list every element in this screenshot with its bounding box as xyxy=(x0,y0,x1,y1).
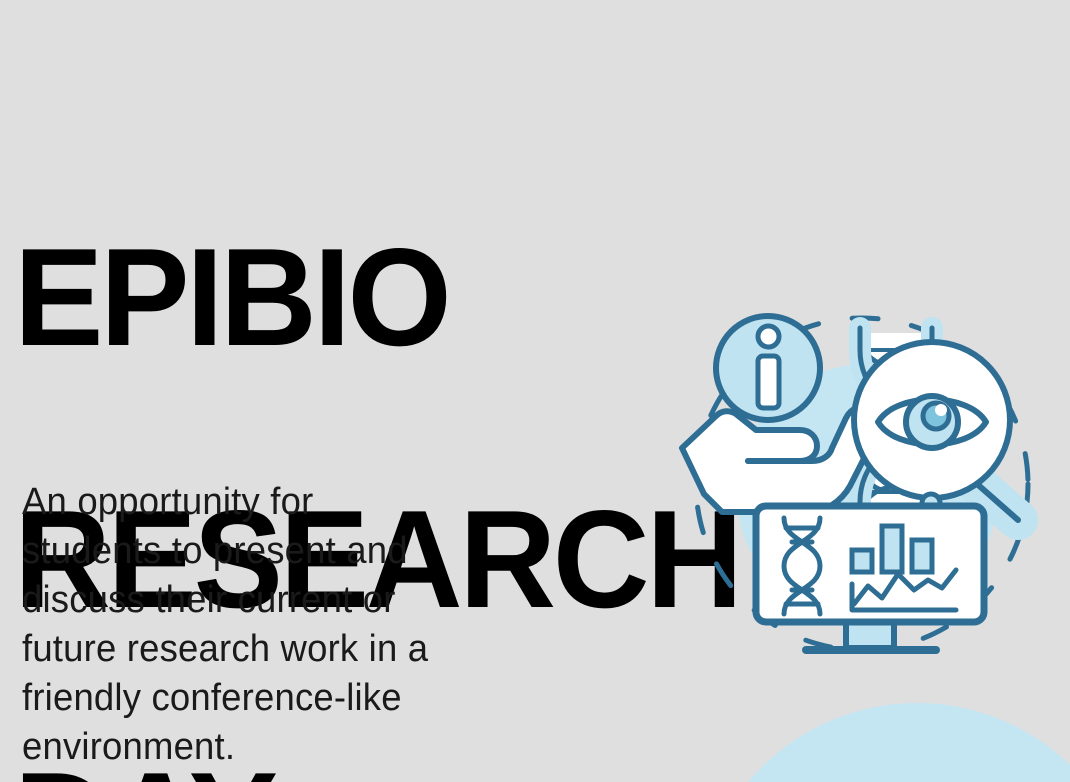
monitor-icon xyxy=(756,506,984,650)
description-line-3: discuss their current or xyxy=(22,576,502,625)
research-illustration xyxy=(660,298,1070,670)
description-text: An opportunity for students to present a… xyxy=(22,478,502,772)
description-line-5: friendly conference-like xyxy=(22,674,502,723)
info-circle-icon xyxy=(716,316,820,420)
description-line-4: future research work in a xyxy=(22,625,502,674)
description-line-2: students to present and xyxy=(22,527,502,576)
poster-canvas: EPIBIO RESEARCH DAY An opportunity for s… xyxy=(0,0,1070,782)
description-line-1: An opportunity for xyxy=(22,478,502,527)
description-line-6: environment. xyxy=(22,723,502,772)
